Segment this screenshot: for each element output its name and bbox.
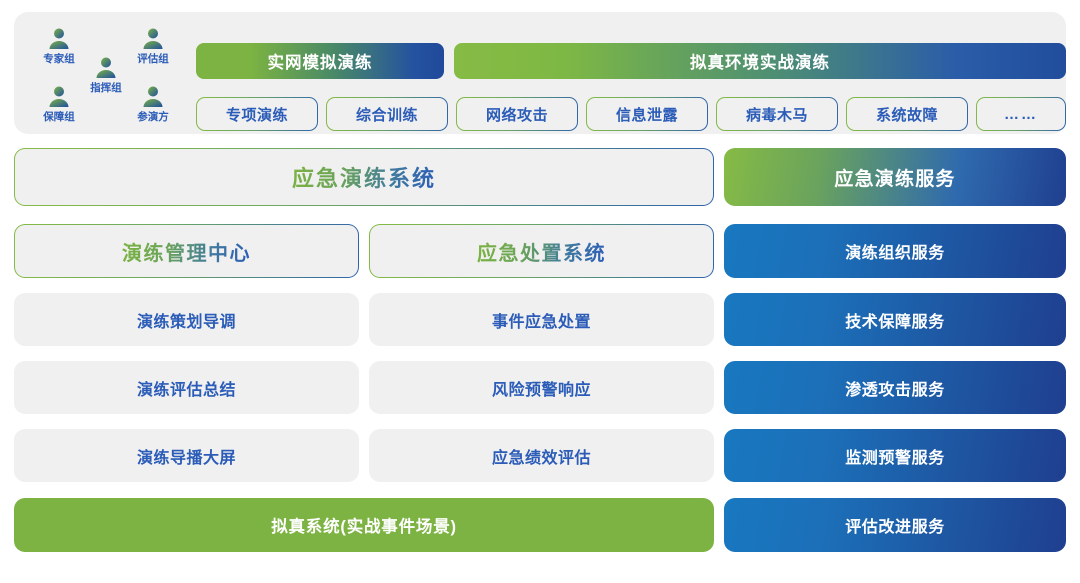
top-panel: 专家组 评估组 指挥组 (14, 12, 1066, 134)
right-section-title-label: 应急演练服务 (834, 164, 955, 191)
right-section-title: 应急演练服务 (724, 148, 1066, 206)
card-label: 渗透攻击服务 (845, 376, 945, 400)
roles-group: 专家组 评估组 指挥组 (28, 20, 188, 128)
card-label: 演练导播大屏 (137, 444, 236, 468)
column-heading-drill-management[interactable]: 演练管理中心 (14, 224, 359, 278)
diagram-root: 专家组 评估组 指挥组 (0, 0, 1080, 583)
person-icon (140, 26, 166, 52)
card-drill-planning[interactable]: 演练策划导调 (14, 293, 359, 346)
pill-label: 网络攻击 (486, 104, 548, 125)
pill-label: 信息泄露 (616, 104, 678, 125)
column-heading-label: 演练管理中心 (122, 237, 251, 266)
pill-network-attack[interactable]: 网络攻击 (456, 97, 578, 131)
column-heading-label: 应急处置系统 (477, 237, 606, 266)
pill-virus-trojan[interactable]: 病毒木马 (716, 97, 838, 131)
role-participant: 参演方 (124, 84, 182, 123)
card-label: 应急绩效评估 (492, 444, 591, 468)
card-penetration-attack-service[interactable]: 渗透攻击服务 (724, 361, 1066, 414)
role-support: 保障组 (30, 84, 88, 123)
card-drill-broadcast-screen[interactable]: 演练导播大屏 (14, 429, 359, 482)
person-icon (46, 26, 72, 52)
bar-label: 实网模拟演练 (268, 49, 373, 73)
pill-label: 病毒木马 (746, 104, 808, 125)
card-label: 演练组织服务 (845, 239, 945, 263)
person-icon (140, 84, 166, 110)
card-label: 事件应急处置 (492, 308, 591, 332)
pill-info-leak[interactable]: 信息泄露 (586, 97, 708, 131)
left-section-title: 应急演练系统 (14, 148, 714, 206)
pill-system-fault[interactable]: 系统故障 (846, 97, 968, 131)
pill-label: …… (1004, 106, 1038, 123)
role-label: 参演方 (124, 111, 182, 123)
card-incident-response[interactable]: 事件应急处置 (369, 293, 714, 346)
pill-label: 专项演练 (226, 104, 288, 125)
person-icon (93, 55, 119, 81)
card-assessment-improvement-service[interactable]: 评估改进服务 (724, 498, 1066, 552)
card-label: 技术保障服务 (845, 308, 945, 332)
pill-comprehensive-training[interactable]: 综合训练 (326, 97, 448, 131)
column-heading-emergency-disposal[interactable]: 应急处置系统 (369, 224, 714, 278)
card-label: 演练评估总结 (137, 376, 236, 400)
person-icon (46, 84, 72, 110)
card-label: 评估改进服务 (845, 513, 945, 537)
card-drill-organization-service[interactable]: 演练组织服务 (724, 224, 1066, 278)
pill-special-drill[interactable]: 专项演练 (196, 97, 318, 131)
card-monitoring-warning-service[interactable]: 监测预警服务 (724, 429, 1066, 482)
card-drill-assessment[interactable]: 演练评估总结 (14, 361, 359, 414)
card-label: 监测预警服务 (845, 444, 945, 468)
pill-more[interactable]: …… (976, 97, 1066, 131)
card-technical-support-service[interactable]: 技术保障服务 (724, 293, 1066, 346)
card-risk-warning-response[interactable]: 风险预警响应 (369, 361, 714, 414)
pill-label: 综合训练 (356, 104, 418, 125)
bar-simulation-drill[interactable]: 实网模拟演练 (196, 43, 444, 79)
card-label: 演练策划导调 (137, 308, 236, 332)
card-label: 风险预警响应 (492, 376, 591, 400)
bar-real-environment-drill[interactable]: 拟真环境实战演练 (454, 43, 1066, 79)
card-label: 拟真系统(实战事件场景) (271, 513, 457, 537)
card-emergency-performance-assessment[interactable]: 应急绩效评估 (369, 429, 714, 482)
bar-label: 拟真环境实战演练 (690, 49, 830, 73)
pill-label: 系统故障 (876, 104, 938, 125)
card-simulation-system-footer[interactable]: 拟真系统(实战事件场景) (14, 498, 714, 552)
role-label: 保障组 (30, 111, 88, 123)
left-section-title-label: 应急演练系统 (292, 161, 436, 193)
